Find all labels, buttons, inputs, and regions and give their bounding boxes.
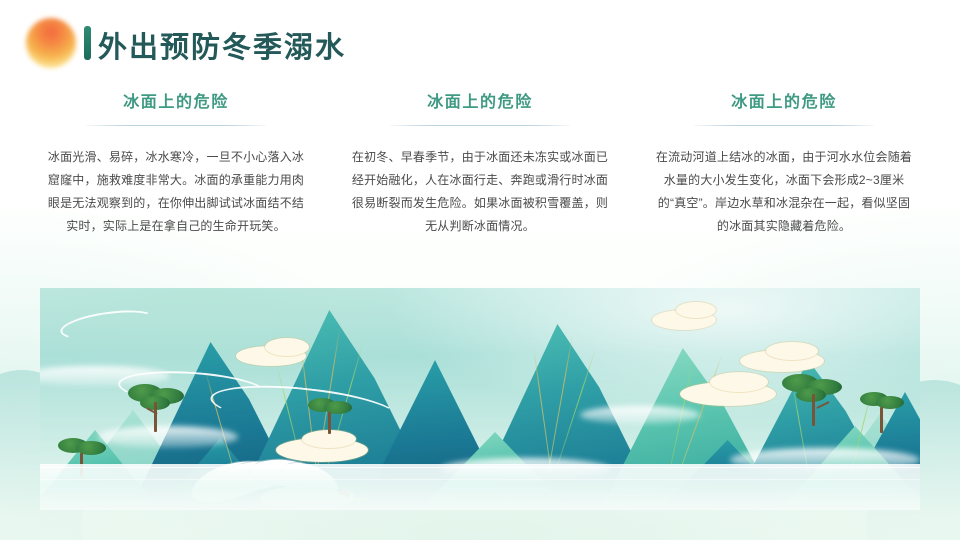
column-body-text: 在初冬、早春季节，由于冰面还未冻实或冰面已经开始融化，人在冰面行走、奔跑或滑行时… bbox=[351, 146, 609, 238]
sun-icon bbox=[26, 18, 76, 68]
pine-tree bbox=[308, 398, 352, 438]
water-line bbox=[40, 467, 920, 468]
water-line bbox=[40, 479, 920, 480]
river-foreground bbox=[40, 464, 920, 510]
pine-tree bbox=[128, 384, 186, 436]
landscape-illustration bbox=[40, 288, 920, 510]
content-column-3: 冰面上的危险 在流动河道上结冰的冰面，由于河水水位会随着水量的大小发生变化，冰面… bbox=[648, 88, 920, 278]
cloud bbox=[710, 372, 768, 392]
cloud bbox=[265, 338, 309, 356]
content-column-2: 冰面上的危险 在初冬、早春季节，由于冰面还未冻实或冰面已经开始融化，人在冰面行走… bbox=[344, 88, 616, 278]
column-heading: 冰面上的危险 bbox=[731, 88, 837, 112]
column-heading: 冰面上的危险 bbox=[427, 88, 533, 112]
content-columns: 冰面上的危险 冰面光滑、易碎，冰水寒冷，一旦不小心落入冰窟窿中，施救难度非常大。… bbox=[40, 88, 920, 278]
column-divider bbox=[694, 125, 874, 126]
column-divider bbox=[390, 125, 570, 126]
cloud bbox=[676, 302, 716, 318]
content-column-1: 冰面上的危险 冰面光滑、易碎，冰水寒冷，一旦不小心落入冰窟窿中，施救难度非常大。… bbox=[40, 88, 312, 278]
mist-band bbox=[580, 406, 700, 424]
pine-tree bbox=[782, 374, 844, 430]
column-body-text: 冰面光滑、易碎，冰水寒冷，一旦不小心落入冰窟窿中，施救难度非常大。冰面的承重能力… bbox=[47, 146, 305, 238]
column-body-text: 在流动河道上结冰的冰面，由于河水水位会随着水量的大小发生变化，冰面下会形成2~3… bbox=[655, 146, 913, 238]
accent-bar-icon bbox=[84, 26, 91, 60]
column-divider bbox=[86, 125, 266, 126]
page-title: 外出预防冬季溺水 bbox=[98, 24, 346, 66]
pine-tree bbox=[860, 392, 906, 436]
column-heading: 冰面上的危险 bbox=[123, 88, 229, 112]
slide-header: 外出预防冬季溺水 bbox=[0, 0, 960, 86]
cloud bbox=[766, 342, 818, 360]
